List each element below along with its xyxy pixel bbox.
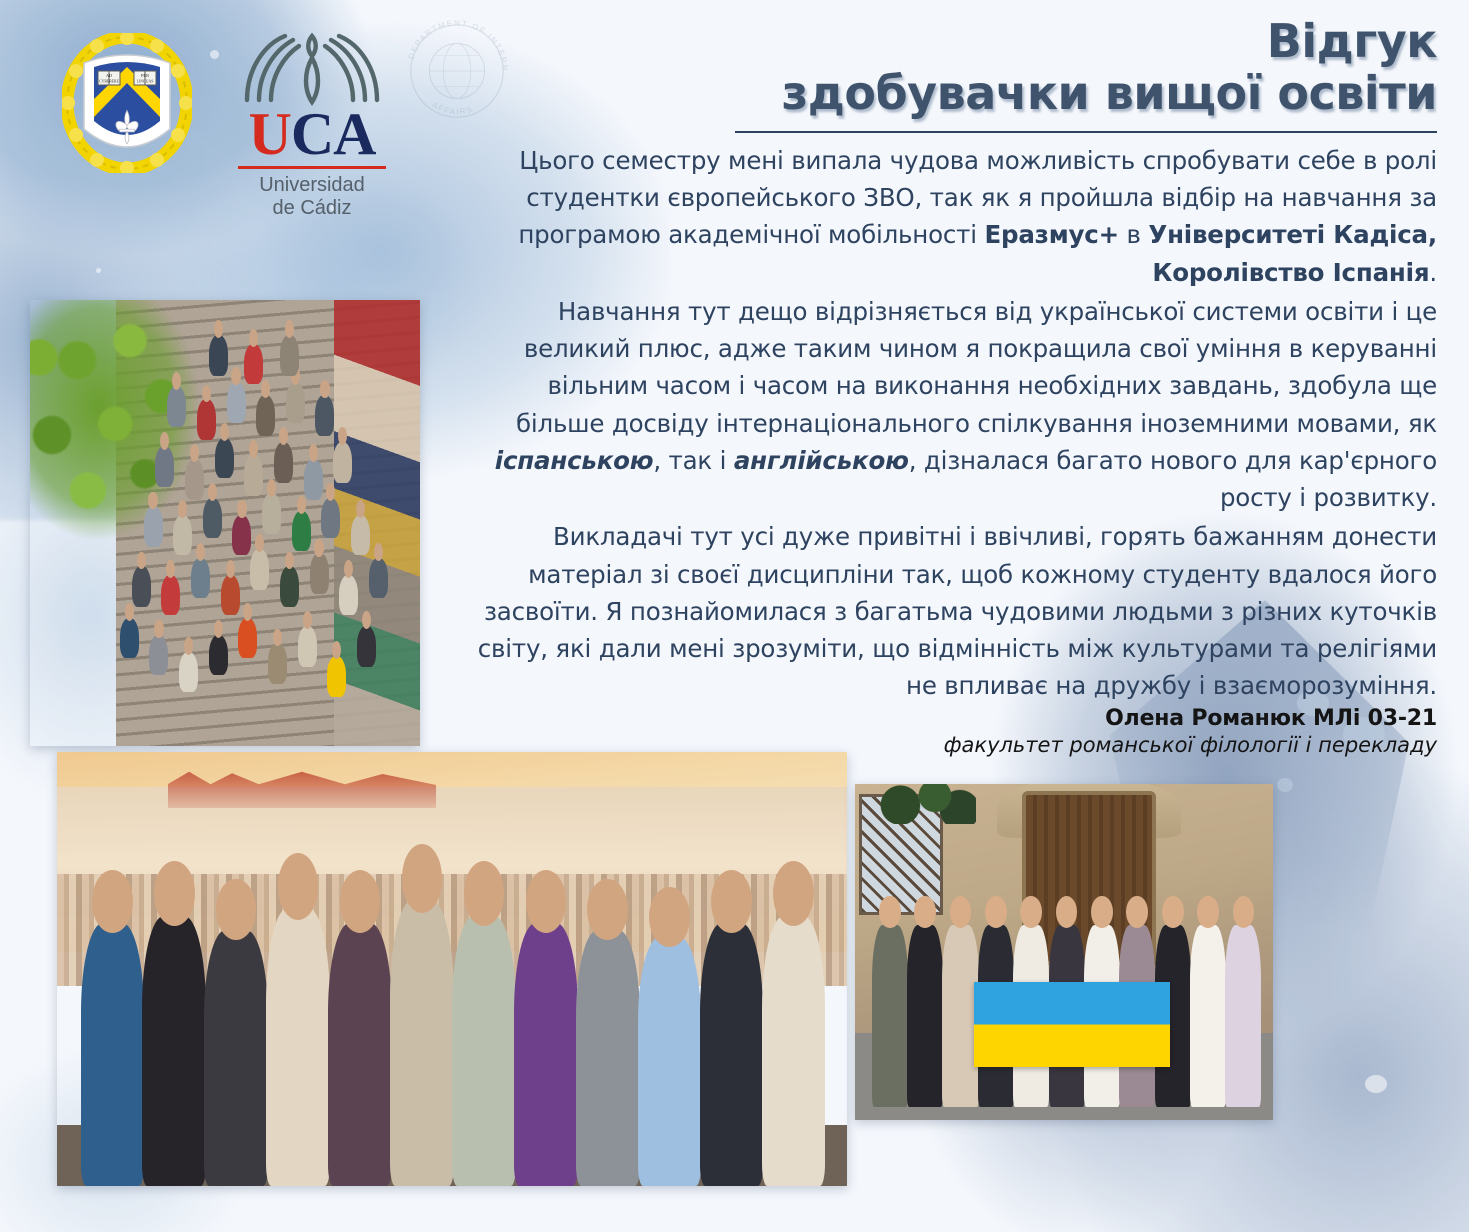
tree-foliage xyxy=(868,784,977,824)
photo-students-stairs xyxy=(30,300,420,746)
ukrainian-students-group xyxy=(872,885,1265,1107)
p2-emph-english: англійською xyxy=(734,446,909,475)
page-title-line2: здобувачки вищої освіти xyxy=(725,68,1437,120)
page-title: Відгук здобувачки вищої освіти xyxy=(725,16,1437,119)
svg-text:DEPARTMENT OF INTERNATIONAL: DEPARTMENT OF INTERNATIONAL xyxy=(398,12,509,72)
uca-subtitle-line2: de Cádiz xyxy=(232,197,392,220)
paragraph-2: Навчання тут дещо відрізняється від укра… xyxy=(455,293,1437,516)
p1-part2: в xyxy=(1119,220,1148,249)
stairs-crowd xyxy=(108,318,404,746)
testimonial-body: Цього семестру мені випала чудова можлив… xyxy=(455,142,1437,707)
uca-letter-u: U xyxy=(248,101,290,167)
paint-speck xyxy=(96,268,101,273)
uca-wave-mark xyxy=(237,28,387,106)
paragraph-1: Цього семестру мені випала чудова можлив… xyxy=(455,142,1437,291)
university-crest-logo: AD CYBERERE PER LINGUAS xyxy=(62,33,192,173)
uca-logo: UCA Universidad de Cádiz xyxy=(232,28,392,218)
flag-scene xyxy=(855,784,1273,1120)
page-title-line1: Відгук xyxy=(1267,14,1437,68)
signature-name: Олена Романюк МЛі 03-21 xyxy=(457,706,1437,731)
stairs-scene xyxy=(30,300,420,746)
svg-text:CYBERERE: CYBERERE xyxy=(99,80,120,84)
svg-text:AFFAIRS: AFFAIRS xyxy=(430,100,474,116)
sunset-scene xyxy=(57,752,847,1186)
department-of-international-affairs-watermark: DEPARTMENT OF INTERNATIONAL AFFAIRS xyxy=(398,12,516,130)
title-divider xyxy=(735,131,1437,133)
photo-students-sunset-viewpoint xyxy=(57,752,847,1186)
p2-part2: , так і xyxy=(653,446,733,475)
svg-text:PER: PER xyxy=(141,73,149,78)
p1-bold-university: Університеті Кадіса, Королівство Іспанія xyxy=(1148,220,1437,286)
p2-emph-spanish: іспанською xyxy=(495,446,654,475)
paint-speck xyxy=(210,50,219,59)
p2-part1: Навчання тут дещо відрізняється від укра… xyxy=(516,297,1437,438)
photo-students-ukrainian-flag xyxy=(855,784,1273,1120)
uca-wordmark: UCA xyxy=(232,106,392,163)
paint-speck xyxy=(1365,1075,1387,1093)
p1-part3: . xyxy=(1429,258,1437,287)
uca-subtitle-line1: Universidad xyxy=(232,174,392,197)
p1-bold-erasmus: Еразмус+ xyxy=(984,220,1119,249)
uca-letters-ca: CA xyxy=(291,101,376,167)
watermark-top-text: DEPARTMENT OF INTERNATIONAL xyxy=(398,12,509,72)
paint-blob xyxy=(1277,778,1293,792)
watermark-bottom-text: AFFAIRS xyxy=(430,100,474,116)
ukrainian-flag xyxy=(974,982,1170,1066)
sunset-group xyxy=(73,830,847,1186)
paragraph-3: Викладачі тут усі дуже привітні і ввічли… xyxy=(455,518,1437,704)
p2-part3: , дізналася багато нового для кар'єрного… xyxy=(909,446,1437,512)
svg-text:AD: AD xyxy=(106,73,112,78)
svg-text:LINGUAS: LINGUAS xyxy=(137,80,154,84)
signature-block: Олена Романюк МЛі 03-21 факультет романс… xyxy=(457,706,1437,757)
